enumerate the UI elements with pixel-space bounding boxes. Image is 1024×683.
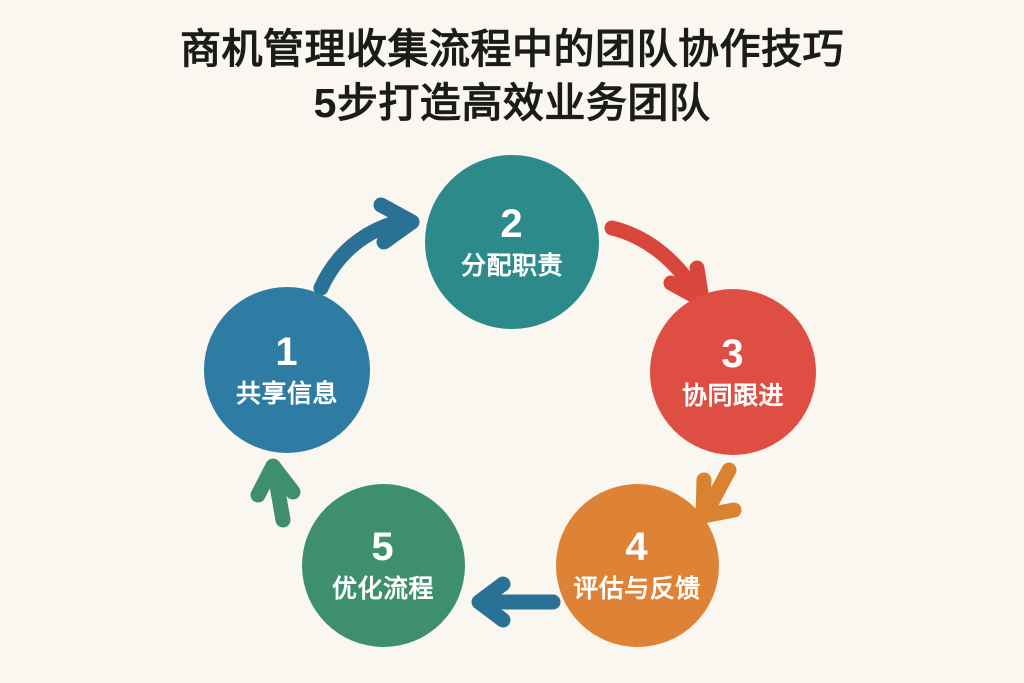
infographic-canvas: 商机管理收集流程中的团队协作技巧 5步打造高效业务团队 <box>0 0 1024 683</box>
step-number-1: 1 <box>275 332 298 372</box>
arrow-step4-to-step5 <box>479 584 553 620</box>
step-node-2[interactable]: 2 分配职责 <box>425 155 599 329</box>
title-line-1: 商机管理收集流程中的团队协作技巧 <box>0 22 1024 76</box>
step-node-1[interactable]: 1 共享信息 <box>204 287 370 453</box>
step-label-4: 评估与反馈 <box>573 576 701 604</box>
step-node-4[interactable]: 4 评估与反馈 <box>556 484 719 647</box>
arrow-step1-to-step2 <box>321 205 412 288</box>
arrow-step3-to-step4 <box>703 470 734 516</box>
step-node-3[interactable]: 3 协同跟进 <box>650 289 816 455</box>
step-number-5: 5 <box>371 527 394 567</box>
step-number-2: 2 <box>500 204 523 244</box>
arrow-step2-to-step3 <box>612 228 702 300</box>
step-label-3: 协同跟进 <box>682 383 784 411</box>
step-number-3: 3 <box>721 334 744 374</box>
step-node-5[interactable]: 5 优化流程 <box>302 484 465 647</box>
step-number-4: 4 <box>625 527 648 567</box>
title-line-2: 5步打造高效业务团队 <box>0 76 1024 130</box>
step-label-5: 优化流程 <box>332 576 434 604</box>
page-title: 商机管理收集流程中的团队协作技巧 5步打造高效业务团队 <box>0 22 1024 130</box>
step-label-2: 分配职责 <box>461 253 563 281</box>
step-label-1: 共享信息 <box>236 381 338 409</box>
arrow-step5-to-step1 <box>258 466 293 520</box>
